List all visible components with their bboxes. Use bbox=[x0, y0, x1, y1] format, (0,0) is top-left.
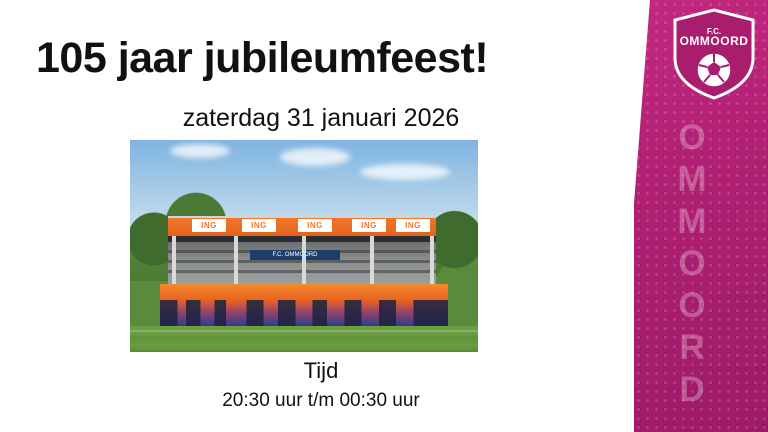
cloud-shape bbox=[170, 144, 230, 158]
stand-banner: F.C. OMMOORD bbox=[250, 250, 340, 260]
caption-time: 20:30 uur t/m 00:30 uur bbox=[36, 390, 606, 412]
club-logo: F.C. OMMOORD bbox=[671, 8, 757, 100]
subtitle-date: zaterdag 31 januari 2026 bbox=[36, 104, 606, 133]
slide-canvas: 105 jaar jubileumfeest! zaterdag 31 janu… bbox=[0, 0, 768, 432]
stadium-photo: F.C. OMMOORD ING ING ING ING ING bbox=[130, 140, 478, 352]
mural-wall bbox=[160, 284, 448, 326]
svg-text:OMMOORD: OMMOORD bbox=[680, 34, 749, 48]
cloud-shape bbox=[280, 148, 350, 166]
cloud-shape bbox=[360, 164, 450, 180]
ad-board-ing: ING bbox=[242, 219, 276, 232]
photo-content: F.C. OMMOORD ING ING ING ING ING bbox=[130, 140, 478, 352]
skyline-silhouette bbox=[160, 300, 448, 326]
ad-board-ing: ING bbox=[298, 219, 332, 232]
ad-board-ing: ING bbox=[396, 219, 430, 232]
caption-title: Tijd bbox=[36, 358, 606, 384]
ad-board-ing: ING bbox=[352, 219, 386, 232]
ad-board-ing: ING bbox=[192, 219, 226, 232]
brand-band: OMMOORD F.C. OMMOORD bbox=[616, 0, 768, 432]
page-title: 105 jaar jubileumfeest! bbox=[36, 36, 606, 81]
